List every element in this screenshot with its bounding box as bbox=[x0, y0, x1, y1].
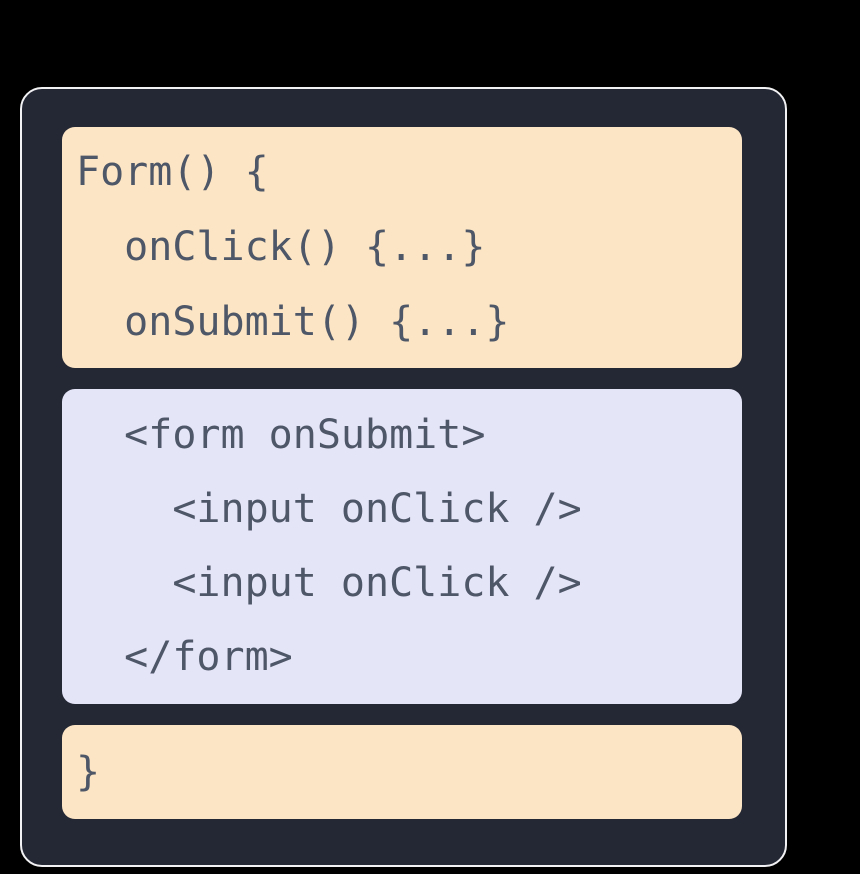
code-panel-markup: <form onSubmit> <input onClick /> <input… bbox=[62, 389, 742, 704]
code-line: <input onClick /> bbox=[76, 472, 728, 546]
code-panel-closing: } bbox=[62, 725, 742, 819]
code-line: <form onSubmit> bbox=[76, 398, 728, 472]
code-line: Form() { bbox=[76, 135, 728, 210]
code-line: onClick() {...} bbox=[76, 210, 728, 285]
code-line: } bbox=[76, 742, 728, 802]
code-line: </form> bbox=[76, 620, 728, 694]
diagram-canvas: Form() { onClick() {...} onSubmit() {...… bbox=[0, 0, 860, 874]
code-line: onSubmit() {...} bbox=[76, 285, 728, 360]
code-panel-component-scope: Form() { onClick() {...} onSubmit() {...… bbox=[62, 127, 742, 368]
code-card: Form() { onClick() {...} onSubmit() {...… bbox=[20, 87, 787, 867]
code-line: <input onClick /> bbox=[76, 546, 728, 620]
